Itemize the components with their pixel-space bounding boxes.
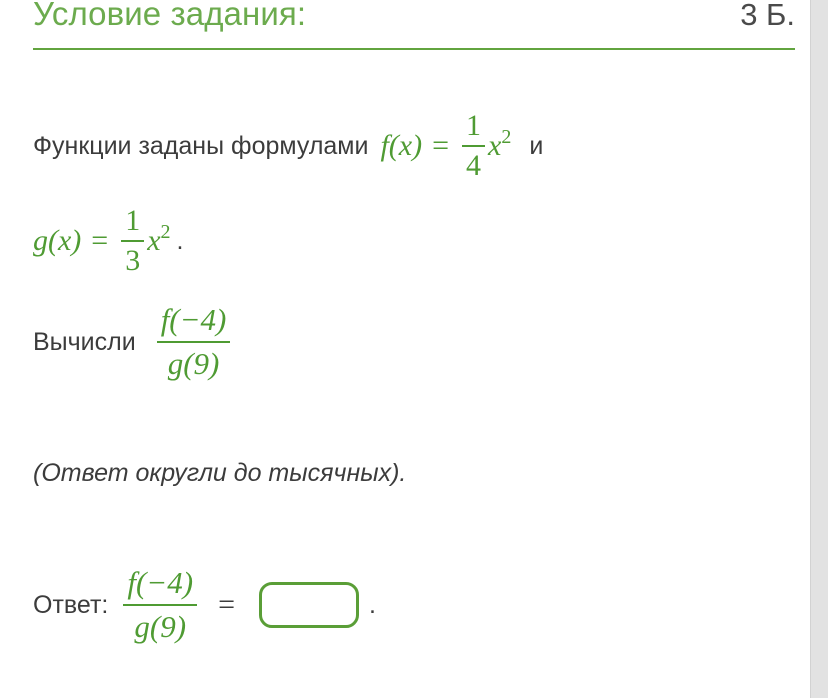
statement-intro-text: Функции заданы формулами xyxy=(33,131,368,161)
variable-x-g: x xyxy=(147,224,160,258)
page-title: Условие задания: xyxy=(33,0,306,34)
rounding-note: (Ответ округли до тысячных). xyxy=(33,458,406,488)
fraction-bar xyxy=(462,145,485,147)
fraction-numerator: f(−4) xyxy=(123,563,197,603)
fraction-denominator: 4 xyxy=(462,148,485,184)
fraction-numerator: f(−4) xyxy=(157,300,231,340)
fraction-one-quarter: 1 4 xyxy=(462,108,485,184)
statement-line-g: g(x) = 1 3 x 2 . xyxy=(33,203,184,279)
fraction-denominator: g(9) xyxy=(130,607,190,647)
answer-trailing-period: . xyxy=(369,591,376,620)
fraction-bar xyxy=(157,341,231,343)
fraction-bar xyxy=(123,604,197,606)
fraction-bar xyxy=(121,240,144,242)
fraction-numerator: 1 xyxy=(462,108,485,144)
fraction-one-third: 1 3 xyxy=(121,203,144,279)
answer-equals-sign: = xyxy=(218,588,235,622)
rounding-note-text: (Ответ округли до тысячных). xyxy=(33,458,406,488)
sentence-period: . xyxy=(177,226,184,256)
scrollbar-track[interactable] xyxy=(810,0,828,698)
compute-label: Вычисли xyxy=(33,327,136,357)
conjunction-and: и xyxy=(529,131,543,161)
function-g-name: g(x) xyxy=(33,224,81,258)
statement-line-functions: Функции заданы формулами f(x) = 1 4 x 2 … xyxy=(33,108,543,184)
task-page: Условие задания: 3 Б. Функции заданы фор… xyxy=(0,0,810,698)
fraction-denominator: g(9) xyxy=(164,344,224,384)
equals-sign-f: = xyxy=(432,129,449,163)
fraction-f-over-g: f(−4) g(9) xyxy=(157,300,231,384)
answer-input[interactable] xyxy=(259,582,359,628)
answer-row: Ответ: f(−4) g(9) = . xyxy=(33,563,376,647)
task-header: Условие задания: 3 Б. xyxy=(33,0,795,50)
function-f-name: f(x) xyxy=(380,129,422,163)
points-badge: 3 Б. xyxy=(740,0,795,35)
fraction-numerator: 1 xyxy=(121,203,144,239)
variable-x-f: x xyxy=(488,129,501,163)
answer-label: Ответ: xyxy=(33,590,108,620)
statement-line-compute: Вычисли f(−4) g(9) xyxy=(33,300,233,384)
answer-fraction-f-over-g: f(−4) g(9) xyxy=(123,563,197,647)
equals-sign-g: = xyxy=(91,224,108,258)
fraction-denominator: 3 xyxy=(121,243,144,279)
header-divider xyxy=(33,48,795,50)
